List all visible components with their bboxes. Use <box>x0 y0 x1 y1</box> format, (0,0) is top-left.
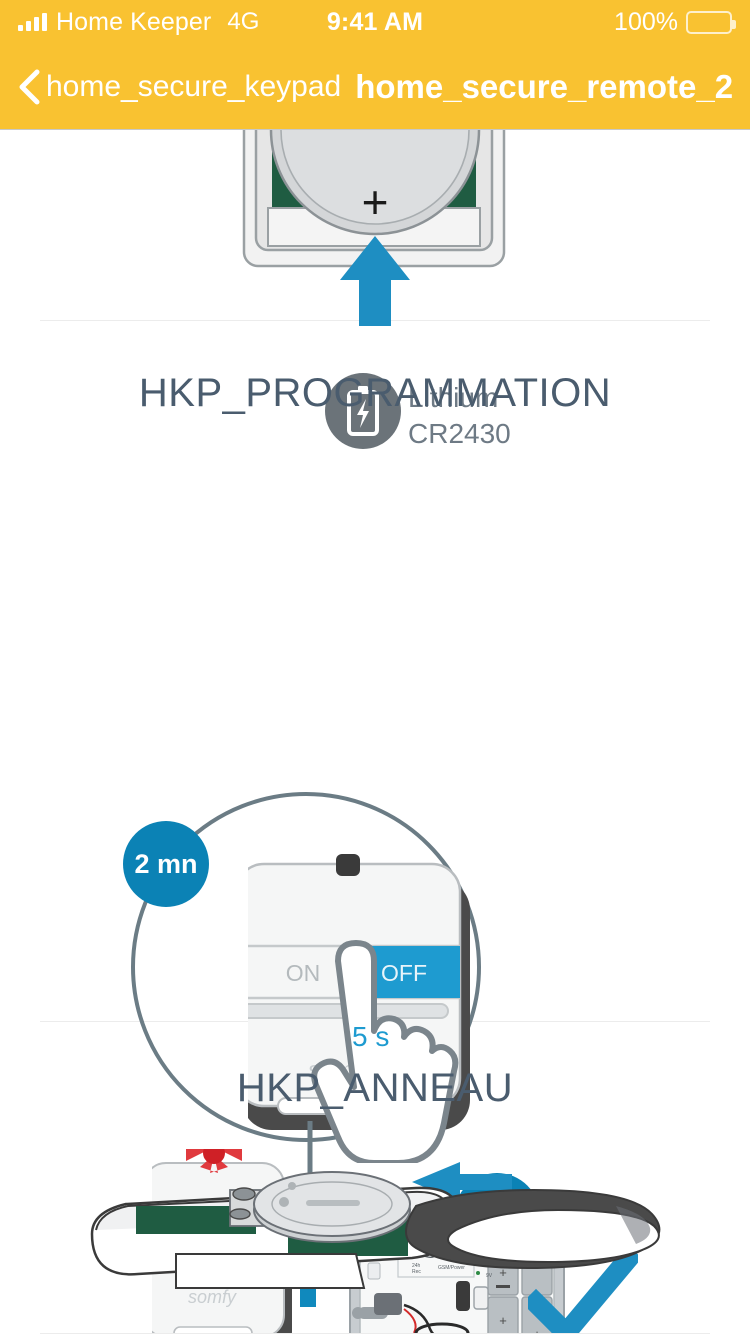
nav-bar: home_secure_keypad home_secure_remote_2 <box>0 44 750 130</box>
signal-bars-icon <box>18 13 47 31</box>
chevron-left-icon <box>14 68 44 106</box>
status-bar: Home Keeper 4G 9:41 AM 100% <box>0 0 750 44</box>
back-button-label: home_secure_keypad <box>46 70 341 104</box>
network-type-label: 4G <box>227 8 259 36</box>
back-button[interactable]: home_secure_keypad <box>0 68 341 106</box>
battery-section: + Lithium CR2430 <box>0 130 750 320</box>
status-bar-right: 100% <box>423 8 732 37</box>
battery-full-icon <box>686 11 732 34</box>
duration-badge: 2 mn <box>123 821 209 907</box>
carrier-label: Home Keeper <box>56 8 211 37</box>
app-screen: Home Keeper 4G 9:41 AM 100% home_secure_… <box>0 0 750 1334</box>
ring-section-title: HKP_ANNEAU <box>0 1022 750 1111</box>
duration-badge-label: 2 mn <box>134 849 197 880</box>
svg-text:+: + <box>499 1313 507 1328</box>
status-bar-left: Home Keeper 4G <box>18 8 327 37</box>
programming-section-title: HKP_PROGRAMMATION <box>0 321 750 416</box>
ring-illustration <box>60 1134 700 1294</box>
clock-label: 9:41 AM <box>327 8 423 37</box>
polarity-plus-label: + <box>362 176 389 228</box>
battery-percent-label: 100% <box>614 8 678 37</box>
page-title: home_secure_remote_2 <box>355 68 733 106</box>
programming-section: HKP_PROGRAMMATION ON OFF <box>0 321 750 1021</box>
content-scroll-area[interactable]: + Lithium CR2430 HKP_PROGRAMMAT <box>0 130 750 1334</box>
ring-section: HKP_ANNEAU <box>0 1022 750 1272</box>
